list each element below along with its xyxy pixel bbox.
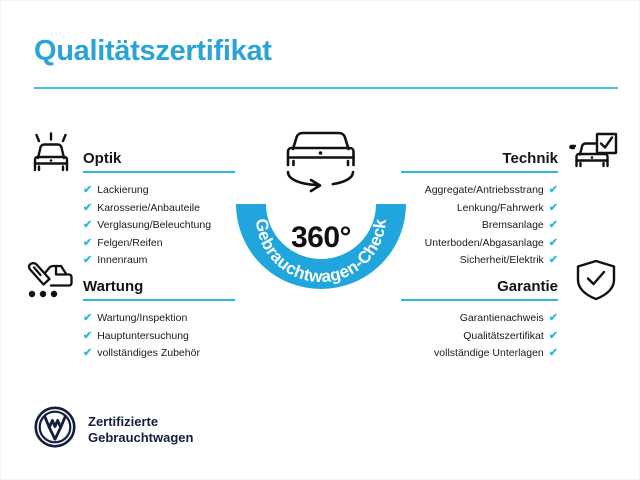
vw-footer-line2: Gebrauchtwagen <box>88 430 193 445</box>
list-item: ✔Wartung/Inspektion <box>83 310 235 328</box>
section-wartung-title: Wartung <box>83 278 143 295</box>
section-garantie-divider <box>401 299 558 301</box>
list-item: ✔Karosserie/Anbauteile <box>83 200 235 218</box>
list-item: ✔vollständiges Zubehör <box>83 345 235 363</box>
check-icon: ✔ <box>83 310 92 328</box>
list-item-label: Wartung/Inspektion <box>97 312 187 324</box>
section-technik: Technik Aggregate/Antriebsstrang✔ Lenkun… <box>401 141 558 270</box>
section-optik-header: Optik <box>83 141 235 171</box>
list-item-label: Verglasung/Beleuchtung <box>97 219 211 231</box>
badge-center-label: 360° <box>230 221 412 255</box>
section-garantie-header: Garantie <box>401 269 558 299</box>
list-item-label: Aggregate/Antriebsstrang <box>425 184 544 196</box>
list-item: ✔Verglasung/Beleuchtung <box>83 217 235 235</box>
list-item-label: vollständiges Zubehör <box>97 347 200 359</box>
section-optik-items: ✔Lackierung ✔Karosserie/Anbauteile ✔Verg… <box>83 171 235 270</box>
section-technik-header: Technik <box>401 141 558 171</box>
list-item-label: Lackierung <box>97 184 148 196</box>
list-item-label: Lenkung/Fahrwerk <box>457 202 544 214</box>
list-item-label: Hauptuntersuchung <box>97 330 189 342</box>
check-icon: ✔ <box>83 235 92 253</box>
section-technik-items: Aggregate/Antriebsstrang✔ Lenkung/Fahrwe… <box>401 171 558 270</box>
section-optik: Optik ✔Lackierung ✔Karosserie/Anbauteile… <box>83 141 235 270</box>
shield-check-icon <box>572 259 624 301</box>
check-icon: ✔ <box>83 217 92 235</box>
car-checkbox-icon <box>567 132 619 174</box>
check-icon: ✔ <box>83 345 92 363</box>
list-item-label: Bremsanlage <box>482 219 544 231</box>
list-item: ✔Innenraum <box>83 252 235 270</box>
check-icon: ✔ <box>549 328 558 346</box>
section-technik-title: Technik <box>502 150 558 167</box>
section-wartung: Wartung ✔Wartung/Inspektion ✔Hauptunters… <box>83 269 235 363</box>
list-item: Garantienachweis✔ <box>401 310 558 328</box>
vw-footer: Zertifizierte Gebrauchtwagen <box>34 406 193 453</box>
check-icon: ✔ <box>549 310 558 328</box>
car-shine-icon <box>25 132 77 174</box>
check-icon: ✔ <box>83 200 92 218</box>
list-item: Bremsanlage✔ <box>401 217 558 235</box>
list-item-label: Unterboden/Abgasanlage <box>425 237 544 249</box>
check-icon: ✔ <box>83 182 92 200</box>
header-divider <box>34 87 618 89</box>
wrench-car-icon <box>23 259 75 301</box>
vw-footer-text: Zertifizierte Gebrauchtwagen <box>88 414 193 446</box>
list-item: Lenkung/Fahrwerk✔ <box>401 200 558 218</box>
section-garantie-items: Garantienachweis✔ Qualitätszertifikat✔ v… <box>401 299 558 363</box>
section-wartung-items: ✔Wartung/Inspektion ✔Hauptuntersuchung ✔… <box>83 299 235 363</box>
list-item: Unterboden/Abgasanlage✔ <box>401 235 558 253</box>
list-item: ✔Felgen/Reifen <box>83 235 235 253</box>
page-title: Qualitätszertifikat <box>34 35 272 68</box>
check-icon: ✔ <box>549 252 558 270</box>
section-garantie-title: Garantie <box>497 278 558 295</box>
section-technik-divider <box>401 171 558 173</box>
section-wartung-divider <box>83 299 235 301</box>
check-icon: ✔ <box>549 345 558 363</box>
car-rotate-icon <box>288 133 354 191</box>
badge-360-check: Gebrauchtwagen-Check 360° <box>230 120 412 310</box>
list-item: ✔Hauptuntersuchung <box>83 328 235 346</box>
vw-footer-line1: Zertifizierte <box>88 414 158 429</box>
list-item-label: vollständige Unterlagen <box>434 347 544 359</box>
list-item: Aggregate/Antriebsstrang✔ <box>401 182 558 200</box>
list-item: vollständige Unterlagen✔ <box>401 345 558 363</box>
check-icon: ✔ <box>549 182 558 200</box>
check-icon: ✔ <box>83 328 92 346</box>
list-item-label: Sicherheit/Elektrik <box>460 254 544 266</box>
check-icon: ✔ <box>549 235 558 253</box>
list-item: ✔Lackierung <box>83 182 235 200</box>
section-garantie: Garantie Garantienachweis✔ Qualitätszert… <box>401 269 558 363</box>
check-icon: ✔ <box>549 217 558 235</box>
vw-logo <box>34 406 76 453</box>
certificate-page: Qualitätszertifikat Optik ✔Lackierung ✔K… <box>0 0 640 480</box>
check-icon: ✔ <box>549 200 558 218</box>
list-item-label: Innenraum <box>97 254 147 266</box>
section-optik-divider <box>83 171 235 173</box>
list-item-label: Felgen/Reifen <box>97 237 162 249</box>
check-icon: ✔ <box>83 252 92 270</box>
list-item: Qualitätszertifikat✔ <box>401 328 558 346</box>
list-item-label: Karosserie/Anbauteile <box>97 202 200 214</box>
section-wartung-header: Wartung <box>83 269 235 299</box>
list-item: Sicherheit/Elektrik✔ <box>401 252 558 270</box>
list-item-label: Qualitätszertifikat <box>463 330 544 342</box>
section-optik-title: Optik <box>83 150 121 167</box>
list-item-label: Garantienachweis <box>460 312 544 324</box>
